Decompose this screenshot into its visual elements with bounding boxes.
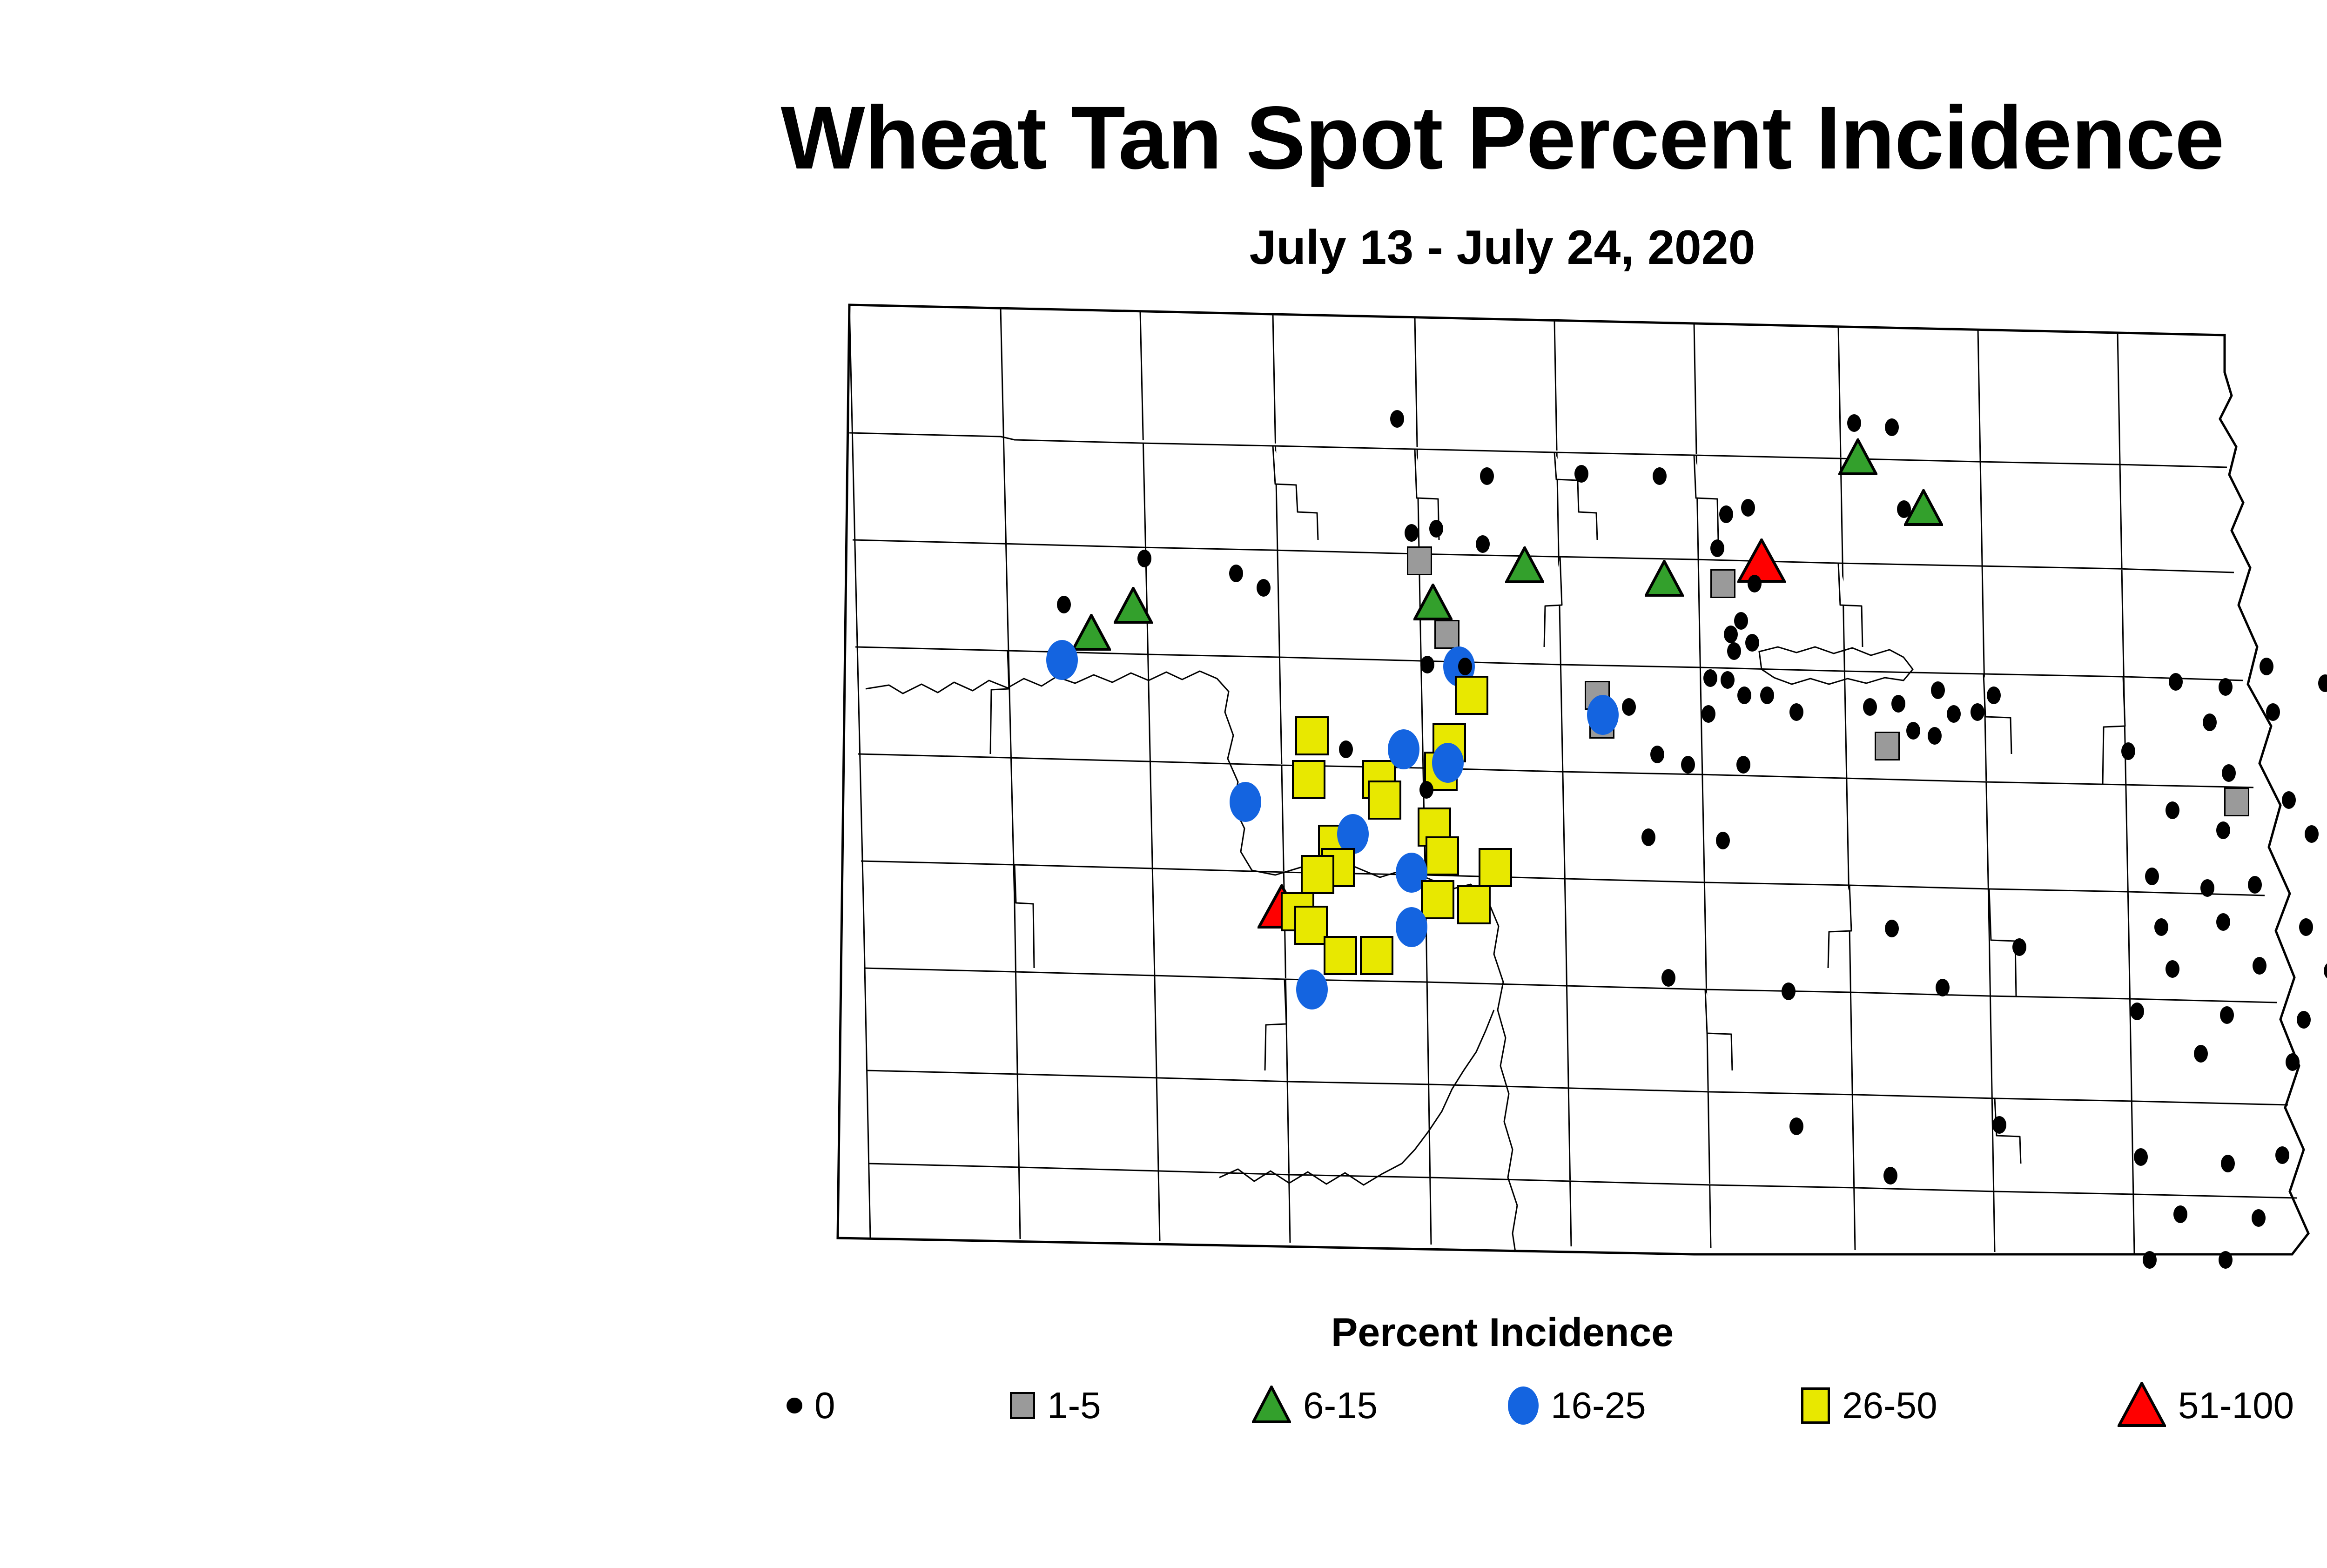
map-point-zero <box>2220 1006 2234 1024</box>
map-point-zero <box>1971 703 1984 721</box>
map-point-zero <box>1737 686 1751 704</box>
legend-title: Percent Incidence <box>0 1312 2327 1353</box>
legend-gray-square-icon <box>1010 1392 1035 1419</box>
map-point-6-15 <box>1072 614 1111 651</box>
map-point-zero <box>1741 499 1755 517</box>
legend-item-1-5[interactable]: 1-5 <box>1010 1378 1101 1433</box>
map-point-zero <box>1736 756 1750 774</box>
map-point-zero <box>1419 781 1433 799</box>
map-point-zero <box>1716 832 1730 849</box>
map-point-zero <box>1653 467 1667 485</box>
map-point-zero <box>2134 1148 2148 1166</box>
map-point-16-25 <box>1432 743 1464 783</box>
map-point-zero <box>2219 1251 2233 1269</box>
map-point-zero <box>2145 868 2159 885</box>
map-point-zero <box>2221 1155 2235 1172</box>
map-point-zero <box>1229 565 1243 582</box>
legend-item-label: 6-15 <box>1303 1387 1378 1424</box>
legend-yellow-square-icon <box>1801 1387 1830 1424</box>
legend-item-label: 0 <box>814 1387 835 1424</box>
map-point-zero <box>1339 740 1353 758</box>
map-point-zero <box>2297 1011 2311 1029</box>
page-title: Wheat Tan Spot Percent Incidence <box>0 93 2327 182</box>
map-point-zero <box>1992 1116 2006 1134</box>
map-point-16-25 <box>1230 782 1261 822</box>
map-point-zero <box>1724 626 1738 643</box>
legend-item-16-25[interactable]: 16-25 <box>1508 1378 1646 1433</box>
legend-item-26-50[interactable]: 26-50 <box>1801 1378 1937 1433</box>
map-point-zero <box>2200 879 2214 897</box>
map-point-16-25 <box>1388 729 1419 769</box>
map-point-zero <box>1405 524 1419 542</box>
map-point-zero <box>1748 575 1762 592</box>
map-point-zero <box>2318 674 2327 692</box>
map-point-zero <box>1745 634 1759 652</box>
map-point-16-25 <box>1046 640 1078 680</box>
map-point-26-50 <box>1301 855 1334 894</box>
map-point-zero <box>1458 658 1472 675</box>
map-point-zero <box>1987 686 2001 704</box>
map-point-zero <box>2222 764 2236 782</box>
map-point-zero <box>1891 695 1905 713</box>
map-point-26-50 <box>1360 936 1393 975</box>
legend-item-6-15[interactable]: 6-15 <box>1252 1378 1378 1433</box>
map-point-6-15 <box>1114 587 1153 624</box>
map-point-26-50 <box>1368 781 1401 820</box>
map-point-zero <box>2286 1053 2300 1071</box>
map-point-zero <box>1661 969 1675 987</box>
map-point-6-15 <box>1413 584 1453 621</box>
map-point-16-25 <box>1296 969 1328 1009</box>
map-point-zero <box>2260 658 2273 675</box>
map-point-zero <box>2305 825 2319 843</box>
map-point-26-50 <box>1324 936 1357 975</box>
map-point-1-5 <box>1875 732 1900 760</box>
map-point-zero <box>1928 727 1942 745</box>
map-point-zero <box>2143 1251 2157 1269</box>
map-point-16-25 <box>1587 695 1619 735</box>
map-point-zero <box>1931 681 1945 699</box>
map-point-1-5 <box>1434 620 1459 649</box>
map-point-zero <box>1897 500 1911 518</box>
map-point-zero <box>1703 669 1717 687</box>
map-point-zero <box>1574 465 1588 483</box>
map-point-zero <box>1622 698 1636 716</box>
legend-red-triangle-icon <box>2118 1382 2166 1430</box>
map-point-zero <box>1727 642 1741 660</box>
map-point-26-50 <box>1421 880 1454 919</box>
map-point-zero <box>1721 671 1735 689</box>
map-point-zero <box>1789 1117 1803 1135</box>
map-point-zero <box>2275 1146 2289 1164</box>
map-figure-page: Wheat Tan Spot Percent Incidence July 13… <box>0 0 2327 1568</box>
page-subtitle: July 13 - July 24, 2020 <box>0 223 2327 272</box>
map-point-zero <box>1885 920 1899 937</box>
map-point-1-5 <box>2224 787 2249 816</box>
map-point-zero <box>2216 821 2230 839</box>
map-point-zero <box>1641 828 1655 846</box>
legend: 01-56-1516-2526-5051-100 <box>787 1378 2327 1443</box>
map-point-zero <box>2299 918 2313 936</box>
map-point-zero <box>2324 962 2327 980</box>
map-point-zero <box>1789 703 1803 721</box>
map-point-zero <box>1883 1167 1897 1184</box>
map-point-zero <box>1906 722 1920 740</box>
map-point-zero <box>2203 713 2217 731</box>
legend-item-label: 26-50 <box>1842 1387 1937 1424</box>
map-point-zero <box>2248 876 2262 894</box>
north-dakota-map[interactable] <box>754 279 2327 1294</box>
map-point-zero <box>1782 983 1796 1000</box>
map-point-26-50 <box>1457 885 1491 924</box>
map-point-26-50 <box>1455 676 1488 715</box>
map-point-6-15 <box>1505 546 1544 584</box>
map-point-zero <box>1885 418 1899 436</box>
map-point-zero <box>1480 467 1494 485</box>
data-points-layer <box>754 279 2327 1294</box>
map-point-26-50 <box>1295 716 1329 755</box>
map-point-zero <box>1719 505 1733 523</box>
map-point-26-50 <box>1294 906 1328 945</box>
map-point-zero <box>2253 957 2266 975</box>
map-point-zero <box>1390 410 1404 428</box>
legend-blue-circle-icon <box>1508 1386 1539 1425</box>
map-point-1-5 <box>1710 569 1735 598</box>
map-point-zero <box>2121 742 2135 760</box>
map-point-zero <box>1936 979 1950 996</box>
map-point-6-15 <box>1838 438 1877 476</box>
map-point-zero <box>2130 1003 2144 1020</box>
map-point-zero <box>1702 705 1715 723</box>
map-point-zero <box>2194 1045 2208 1063</box>
map-point-zero <box>1863 698 1877 716</box>
map-point-zero <box>1710 539 1724 557</box>
map-point-zero <box>1137 550 1151 567</box>
legend-item-label: 1-5 <box>1047 1387 1101 1424</box>
legend-item-0[interactable]: 0 <box>787 1378 835 1433</box>
map-point-zero <box>1057 596 1071 613</box>
legend-green-triangle-icon <box>1252 1386 1291 1426</box>
map-point-zero <box>2012 938 2026 956</box>
map-point-zero <box>1847 414 1861 432</box>
map-point-26-50 <box>1479 848 1512 887</box>
map-point-zero <box>1420 656 1434 673</box>
map-point-zero <box>2166 960 2179 978</box>
map-point-51-100 <box>1737 538 1786 583</box>
map-point-zero <box>2219 678 2233 696</box>
map-point-26-50 <box>1426 836 1459 875</box>
map-point-zero <box>1257 579 1271 597</box>
legend-item-51-100[interactable]: 51-100 <box>2118 1378 2294 1433</box>
map-point-zero <box>2169 673 2183 691</box>
map-point-zero <box>2154 918 2168 936</box>
map-point-zero <box>2166 801 2179 819</box>
legend-item-label: 51-100 <box>2178 1387 2294 1424</box>
map-point-zero <box>2173 1205 2187 1223</box>
map-point-zero <box>1734 612 1748 630</box>
map-point-6-15 <box>1645 560 1684 597</box>
map-point-zero <box>1429 520 1443 538</box>
map-point-zero <box>1476 535 1490 553</box>
map-point-zero <box>2266 703 2280 721</box>
legend-item-label: 16-25 <box>1551 1387 1646 1424</box>
map-point-zero <box>2216 913 2230 931</box>
map-point-16-25 <box>1396 907 1427 947</box>
map-point-zero <box>1650 746 1664 763</box>
map-point-zero <box>1681 756 1695 774</box>
map-point-zero <box>2282 791 2296 809</box>
map-point-1-5 <box>1407 546 1432 575</box>
map-point-zero <box>1947 705 1961 723</box>
map-point-26-50 <box>1292 760 1325 799</box>
map-point-zero <box>1760 686 1774 704</box>
legend-dot-icon <box>787 1398 802 1413</box>
map-point-zero <box>2252 1209 2266 1227</box>
